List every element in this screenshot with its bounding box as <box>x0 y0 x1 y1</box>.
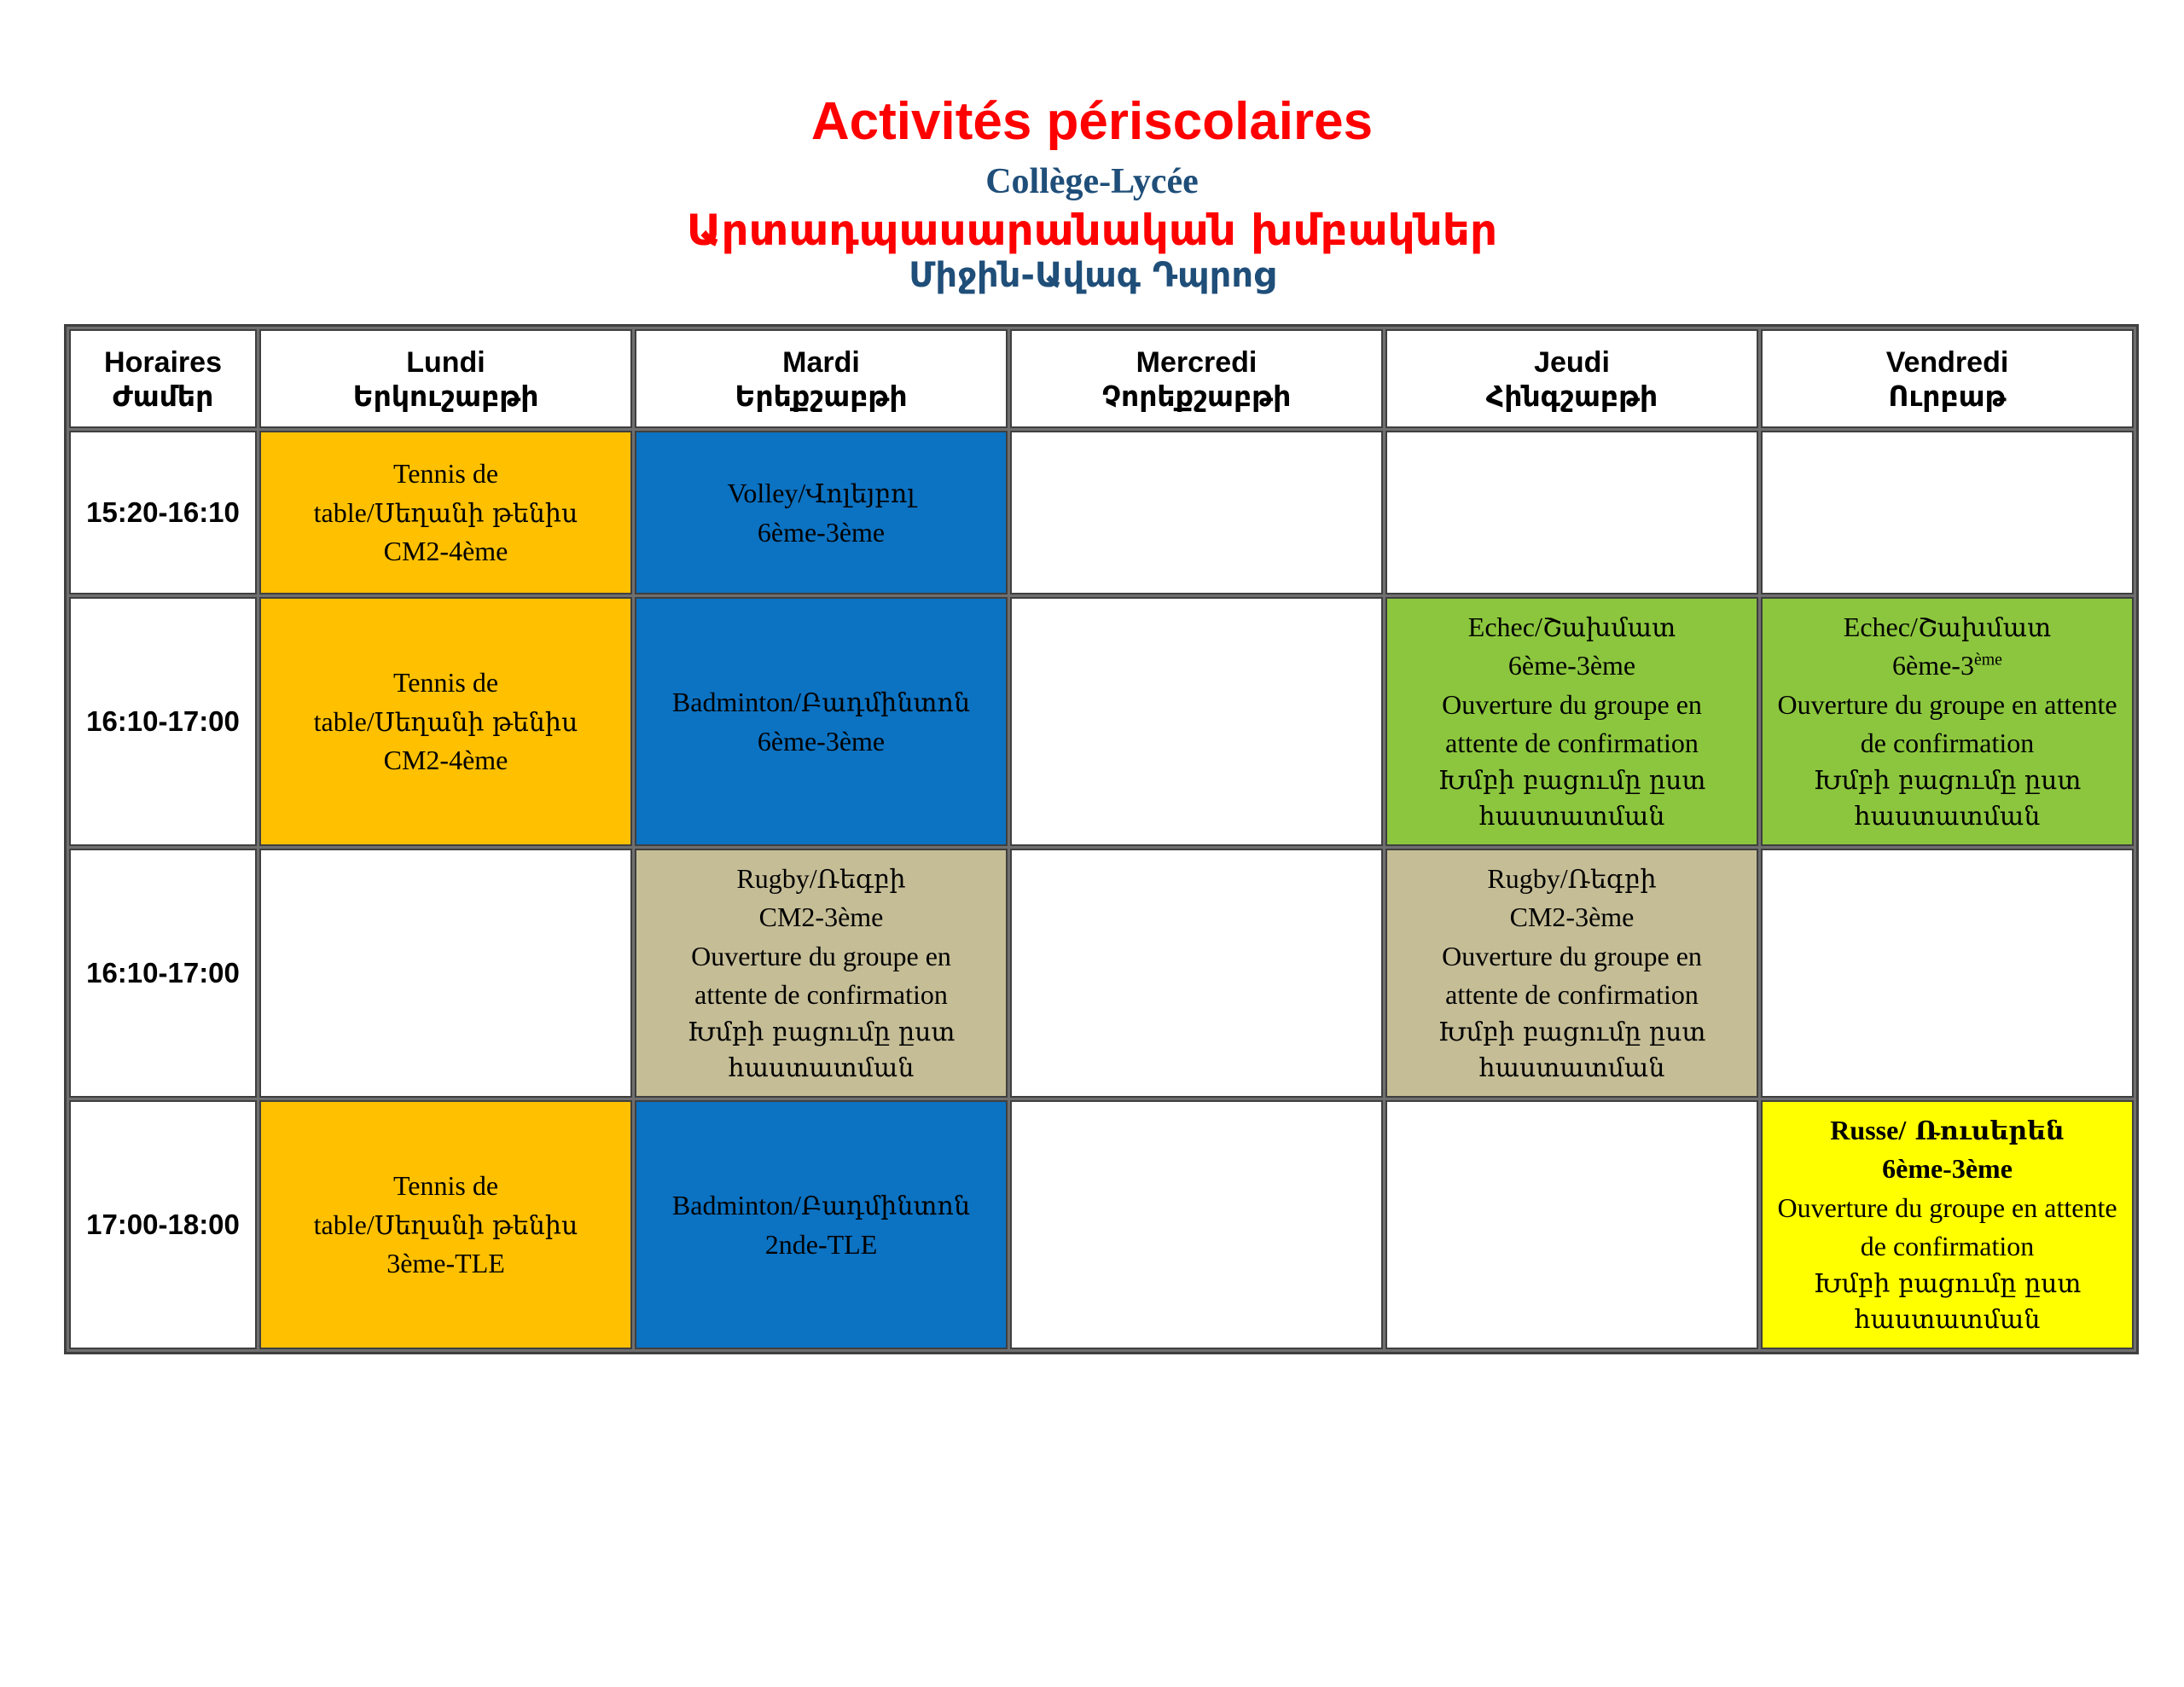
column-header-hy: Երեքշաբթի <box>636 380 1006 414</box>
activity-line: Tennis de <box>393 455 498 493</box>
activity-line: de confirmation <box>1861 724 2034 762</box>
activity-content <box>1387 432 1757 593</box>
activity-cell[interactable]: Echec/Շախմատ6ème-3èmeOuverture du groupe… <box>1761 597 2134 846</box>
activity-line: Rugby/Ռեգբի <box>736 860 905 899</box>
schedule-row: 16:10-17:00Tennis detable/Սեղանի թենիսCM… <box>69 597 2134 846</box>
page-subtitle-fr: Collège-Lycée <box>0 161 2184 202</box>
column-header-vendredi: VendrediՈւրբաթ <box>1761 329 2134 428</box>
page-title-fr: Activités périscolaires <box>0 94 2184 149</box>
activity-cell[interactable]: Russe/ Ռուսերեն6ème-3èmeOuverture du gro… <box>1761 1100 2134 1349</box>
column-header-lundi: LundiԵրկուշաբթի <box>259 329 632 428</box>
schedule-row: 16:10-17:00Rugby/ՌեգբիCM2-3èmeOuverture … <box>69 849 2134 1098</box>
activity-content <box>1012 850 1381 1096</box>
activity-content <box>1387 1102 1757 1348</box>
activity-content <box>1012 432 1381 593</box>
schedule-row: 15:20-16:10Tennis detable/Սեղանի թենիսCM… <box>69 431 2134 594</box>
activity-line: Ouverture du groupe en <box>691 937 951 976</box>
column-header-fr: Vendredi <box>1763 345 2132 380</box>
activity-line: 2nde-TLE <box>765 1226 878 1264</box>
time-slot-label: 17:00-18:00 <box>71 1209 255 1241</box>
time-slot-label: 16:10-17:00 <box>71 705 255 738</box>
activity-line: 6ème-3ème <box>1892 646 2002 685</box>
periscolaire-schedule-page: Activités périscolaires Collège-Lycée Ար… <box>0 0 2184 1687</box>
activity-line: հաստատման <box>1479 1051 1665 1087</box>
column-header-fr: Mardi <box>636 345 1006 380</box>
column-header-fr: Mercredi <box>1012 345 1381 380</box>
column-header-hy: Ուրբաթ <box>1763 380 2132 414</box>
schedule-header-row: HorairesԺամերLundiԵրկուշաբթիMardiԵրեքշաբ… <box>69 329 2134 428</box>
activity-cell[interactable]: Echec/Շախմատ6ème-3èmeOuverture du groupe… <box>1385 597 1758 846</box>
activity-line: Volley/Վոլեյբոլ <box>727 474 915 513</box>
activity-content <box>1763 850 2132 1096</box>
activity-line: Tennis de <box>393 1167 498 1205</box>
activity-line: Badminton/Բադմինտոն <box>672 683 970 722</box>
activity-line: հաստատման <box>1855 1302 2041 1339</box>
activity-line: attente de confirmation <box>1445 724 1699 762</box>
schedule-table-head: HorairesԺամերLundiԵրկուշաբթիMardiԵրեքշաբ… <box>69 329 2134 428</box>
activity-content: Tennis detable/Սեղանի թենիս3ème-TLE <box>261 1102 630 1348</box>
activity-line: 6ème-3ème <box>1508 646 1635 685</box>
page-subtitle-hy: Միջին-Ավագ Դպրոց <box>0 256 2184 295</box>
activity-line: Echec/Շախմատ <box>1468 608 1676 647</box>
activity-content <box>261 850 630 1096</box>
schedule-table: HorairesԺամերLundiԵրկուշաբթիMardiԵրեքշաբ… <box>64 324 2139 1354</box>
empty-cell <box>1385 1100 1758 1349</box>
activity-content: Volley/Վոլեյբոլ6ème-3ème <box>636 432 1006 593</box>
schedule-table-wrapper: HorairesԺամերLundiԵրկուշաբթիMardiԵրեքշաբ… <box>64 324 2120 1354</box>
empty-cell <box>1761 849 2134 1098</box>
activity-line: 6ème-3ème <box>758 513 885 552</box>
activity-line: Badminton/Բադմինտոն <box>672 1186 970 1226</box>
activity-content: Echec/Շախմատ6ème-3èmeOuverture du groupe… <box>1387 599 1757 844</box>
schedule-row: 17:00-18:00Tennis detable/Սեղանի թենիս3è… <box>69 1100 2134 1349</box>
time-slot-cell: 16:10-17:00 <box>69 597 257 846</box>
activity-line: CM2-3ème <box>1510 898 1635 936</box>
activity-content: Tennis detable/Սեղանի թենիսCM2-4ème <box>261 432 630 593</box>
column-header-mardi: MardiԵրեքշաբթի <box>635 329 1008 428</box>
activity-line: հաստատման <box>1479 799 1665 836</box>
activity-line: Խմբի բացումը ըստ <box>1438 763 1706 800</box>
time-slot-label: 16:10-17:00 <box>71 957 255 989</box>
column-header-horaires: HorairesԺամեր <box>69 329 257 428</box>
activity-cell[interactable]: Rugby/ՌեգբիCM2-3èmeOuverture du groupe e… <box>635 849 1008 1098</box>
activity-line: Ouverture du groupe en <box>1442 937 1702 976</box>
page-title-hy: Արտադպասարանական խմբակներ <box>0 207 2184 254</box>
column-header-hy: Չորեքշաբթի <box>1012 380 1381 414</box>
activity-line: Ouverture du groupe en <box>1442 686 1702 724</box>
time-slot-cell: 15:20-16:10 <box>69 431 257 594</box>
column-header-fr: Horaires <box>71 345 255 380</box>
column-header-fr: Lundi <box>261 345 630 380</box>
activity-line: CM2-4ème <box>384 532 508 571</box>
activity-content: Rugby/ՌեգբիCM2-3èmeOuverture du groupe e… <box>636 850 1006 1096</box>
empty-cell <box>1761 431 2134 594</box>
activity-cell[interactable]: Badminton/Բադմինտոն6ème-3ème <box>635 597 1008 846</box>
activity-content: Tennis detable/Սեղանի թենիսCM2-4ème <box>261 599 630 844</box>
column-header-jeudi: JeudiՀինգշաբթի <box>1385 329 1758 428</box>
activity-line: attente de confirmation <box>1445 976 1699 1014</box>
empty-cell <box>1010 431 1383 594</box>
empty-cell <box>1385 431 1758 594</box>
column-header-hy: Երկուշաբթի <box>261 380 630 414</box>
activity-line: Խմբի բացումը ըստ <box>1814 1267 2082 1303</box>
column-header-fr: Jeudi <box>1387 345 1757 380</box>
column-header-hy: Ժամեր <box>71 380 255 414</box>
activity-content: Echec/Շախմատ6ème-3èmeOuverture du groupe… <box>1763 599 2132 844</box>
column-header-hy: Հինգշաբթի <box>1387 380 1757 414</box>
activity-cell[interactable]: Tennis detable/Սեղանի թենիսCM2-4ème <box>259 597 632 846</box>
column-header-mercredi: MercrediՉորեքշաբթի <box>1010 329 1383 428</box>
activity-cell[interactable]: Rugby/ՌեգբիCM2-3èmeOuverture du groupe e… <box>1385 849 1758 1098</box>
activity-line: 6ème-3ème <box>758 722 885 761</box>
time-slot-cell: 17:00-18:00 <box>69 1100 257 1349</box>
activity-content <box>1763 432 2132 593</box>
empty-cell <box>259 849 632 1098</box>
activity-line: Խմբի բացումը ըստ <box>688 1015 955 1052</box>
activity-content: Russe/ Ռուսերեն6ème-3èmeOuverture du gro… <box>1763 1102 2132 1348</box>
activity-line: Tennis de <box>393 664 498 702</box>
activity-content <box>1012 599 1381 844</box>
activity-line: table/Սեղանի թենիս <box>314 703 578 742</box>
activity-content: Badminton/Բադմինտոն6ème-3ème <box>636 599 1006 844</box>
activity-line: Խմբի բացումը ըստ <box>1438 1015 1706 1052</box>
activity-cell[interactable]: Tennis detable/Սեղանի թենիս3ème-TLE <box>259 1100 632 1349</box>
activity-line: 6ème-3ème <box>1882 1150 2013 1188</box>
page-header: Activités périscolaires Collège-Lycée Ար… <box>0 0 2184 295</box>
activity-line: CM2-4ème <box>384 741 508 780</box>
activity-line: Ouverture du groupe en attente <box>1777 686 2117 724</box>
activity-line: Russe/ Ռուսերեն <box>1830 1111 2064 1151</box>
activity-cell[interactable]: Badminton/Բադմինտոն2nde-TLE <box>635 1100 1008 1349</box>
empty-cell <box>1010 849 1383 1098</box>
activity-content: Rugby/ՌեգբիCM2-3èmeOuverture du groupe e… <box>1387 850 1757 1096</box>
activity-line: table/Սեղանի թենիս <box>314 1206 578 1245</box>
activity-line: Խմբի բացումը ըստ <box>1814 763 2082 800</box>
time-slot-cell: 16:10-17:00 <box>69 849 257 1098</box>
activity-cell[interactable]: Tennis detable/Սեղանի թենիսCM2-4ème <box>259 431 632 594</box>
activity-line: հաստատման <box>1855 799 2041 836</box>
activity-line: հաստատման <box>729 1051 915 1087</box>
empty-cell <box>1010 1100 1383 1349</box>
empty-cell <box>1010 597 1383 846</box>
activity-line: Rugby/Ռեգբի <box>1487 860 1656 899</box>
activity-line: 3ème-TLE <box>386 1244 505 1283</box>
activity-line: de confirmation <box>1861 1227 2034 1266</box>
activity-content <box>1012 1102 1381 1348</box>
schedule-table-body: 15:20-16:10Tennis detable/Սեղանի թենիսCM… <box>69 431 2134 1349</box>
activity-cell[interactable]: Volley/Վոլեյբոլ6ème-3ème <box>635 431 1008 594</box>
activity-line: table/Սեղանի թենիս <box>314 494 578 533</box>
activity-line: CM2-3ème <box>759 898 884 936</box>
activity-line: attente de confirmation <box>694 976 948 1014</box>
activity-line: Echec/Շախմատ <box>1844 608 2051 647</box>
time-slot-label: 15:20-16:10 <box>71 496 255 529</box>
activity-line: Ouverture du groupe en attente <box>1777 1189 2117 1227</box>
activity-content: Badminton/Բադմինտոն2nde-TLE <box>636 1102 1006 1348</box>
